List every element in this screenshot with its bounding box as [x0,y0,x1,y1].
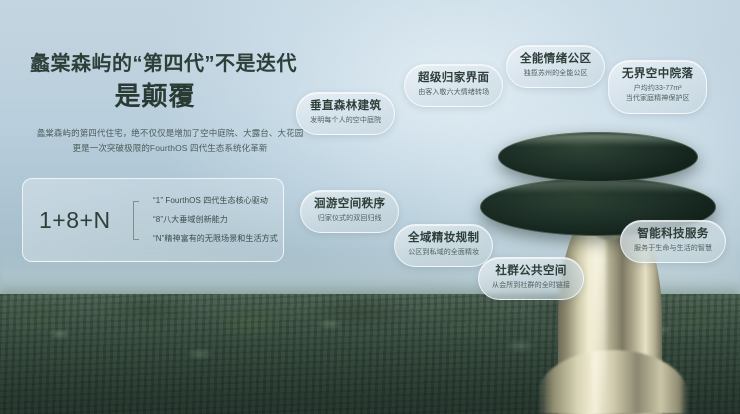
feature-subtitle: 服务于生命与生活的智慧 [634,244,712,254]
formula-item: “8”八大垂域创新能力 [141,211,283,230]
feature-subtitle: 独揽苏州的全能公区 [520,69,591,79]
formula-item: “N”精神富有的无限场景和生活方式 [141,230,283,249]
feature-pill-vertical-forest[interactable]: 垂直森林建筑 发明每个人的空中庭院 [296,92,395,135]
feature-title: 社群公共空间 [492,265,570,278]
feature-pill-smart-service[interactable]: 智能科技服务 服务于生命与生活的智慧 [620,220,726,263]
feature-title: 超级归家界面 [418,72,489,85]
feature-pill-space-order[interactable]: 洄游空间秩序 归家仪式的双回归线 [300,190,399,233]
feature-pill-sky-courtyard[interactable]: 无界空中院落 户均约33-77m² 当代家庭精神保护区 [608,60,707,114]
feature-title: 洄游空间秩序 [314,198,385,211]
feature-subtitle: 从会所到社群的全时链接 [492,281,570,291]
poster-canvas: 蠡棠森屿的“第四代”不是迭代 是颠覆 蠡棠森屿的第四代住宅，绝不仅仅是增加了空中… [0,0,740,414]
formula-value: 1+8+N [23,207,131,234]
headline-subtext-line1: 蠡棠森屿的第四代住宅，绝不仅仅是增加了空中庭院、大露台、大花园 [30,126,310,141]
feature-subtitle: 归家仪式的双回归线 [314,214,385,224]
feature-title: 智能科技服务 [634,228,712,241]
sculpture-disc-upper-edge [498,132,698,182]
feature-subtitle: 发明每个人的空中庭院 [310,116,381,126]
feature-subtitle: 户均约33-77m² [622,84,693,94]
formula-item: “1” FourthOS 四代生态核心驱动 [141,192,283,211]
feature-pill-community-space[interactable]: 社群公共空间 从会所到社群的全时链接 [478,257,584,300]
feature-title: 全能情绪公区 [520,53,591,66]
feature-title: 垂直森林建筑 [310,100,381,113]
brace-icon [133,201,139,240]
formula-card: 1+8+N “1” FourthOS 四代生态核心驱动 “8”八大垂域创新能力 … [22,178,284,262]
headline-block: 蠡棠森屿的“第四代”不是迭代 是颠覆 蠡棠森屿的第四代住宅，绝不仅仅是增加了空中… [30,52,330,156]
feature-title: 无界空中院落 [622,68,693,81]
headline-primary: 蠡棠森屿的“第四代”不是迭代 [30,52,330,77]
feature-pill-emotion-zone[interactable]: 全能情绪公区 独揽苏州的全能公区 [506,45,605,88]
feature-pill-refined-plan[interactable]: 全域精妆规制 公区到私域的全面精妆 [394,224,493,267]
headline-emphasis: 是颠覆 [30,80,280,114]
headline-subtext: 蠡棠森屿的第四代住宅，绝不仅仅是增加了空中庭院、大露台、大花园 更是一次突破极限… [30,126,310,156]
feature-subtitle: 公区到私域的全面精妆 [408,248,479,258]
feature-pill-home-interface[interactable]: 超级归家界面 由客入敬六大情绪转场 [404,64,503,107]
feature-subtitle: 由客入敬六大情绪转场 [418,88,489,98]
feature-subtitle-secondary: 当代家庭精神保护区 [622,94,693,104]
formula-item-list: “1” FourthOS 四代生态核心驱动 “8”八大垂域创新能力 “N”精神富… [131,192,283,249]
headline-subtext-line2: 更是一次突破极限的FourthOS 四代生态系统化革新 [30,141,310,156]
feature-title: 全域精妆规制 [408,232,479,245]
